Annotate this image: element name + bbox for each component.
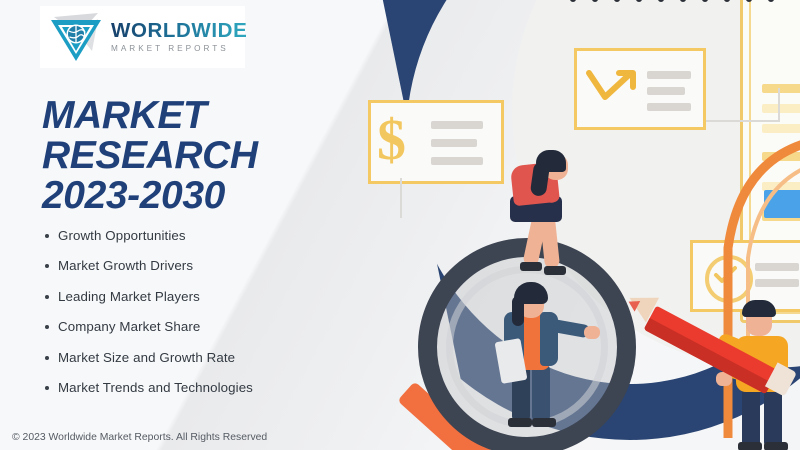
shoe xyxy=(764,442,788,450)
trend-info-card xyxy=(574,48,706,130)
copyright-notice: © 2023 Worldwide Market Reports. All Rig… xyxy=(12,432,267,443)
feature-list: Growth Opportunities Market Growth Drive… xyxy=(44,228,344,410)
card-connector xyxy=(400,178,402,218)
marketing-banner: $ xyxy=(0,0,800,450)
list-item: Company Market Share xyxy=(44,319,344,334)
headline-line-3: 2023-2030 xyxy=(42,176,342,216)
dollar-sign-icon: $ xyxy=(377,111,406,169)
spiral-binding xyxy=(566,0,800,2)
brand-tagline: MARKET REPORTS xyxy=(111,45,247,53)
logo[interactable]: WORLDWIDE MARKET REPORTS xyxy=(40,6,245,68)
list-item: Growth Opportunities xyxy=(44,228,344,243)
list-item: Market Size and Growth Rate xyxy=(44,350,344,365)
illustration: $ xyxy=(330,0,800,450)
list-item: Leading Market Players xyxy=(44,289,344,304)
doc-line xyxy=(762,84,800,93)
card-text-line xyxy=(647,87,685,95)
woman-sitting-on-magnifier xyxy=(490,152,600,288)
shoe xyxy=(532,418,556,427)
doc-line xyxy=(762,124,800,133)
card-text-line xyxy=(647,103,691,111)
headline-line-1: MARKET xyxy=(42,96,342,136)
hand xyxy=(584,326,600,339)
headline-line-2: RESEARCH xyxy=(42,136,342,176)
page-title: MARKET RESEARCH 2023-2030 xyxy=(42,96,342,216)
card-text-line xyxy=(647,71,691,79)
list-item: Market Growth Drivers xyxy=(44,258,344,273)
card-connector xyxy=(778,88,780,122)
pencil-body xyxy=(644,306,779,395)
trend-arrow-icon xyxy=(585,67,641,111)
leg xyxy=(532,364,550,422)
shoe xyxy=(738,442,762,450)
shoe xyxy=(508,418,532,427)
card-text-line xyxy=(431,121,483,129)
woman-with-clipboard xyxy=(482,278,592,434)
pencil-icon xyxy=(628,284,800,404)
pencil-shadow xyxy=(644,318,772,394)
card-text-line xyxy=(431,157,483,165)
doc-line xyxy=(762,104,800,113)
logo-wordmark: WORLDWIDE MARKET REPORTS xyxy=(111,21,247,54)
dollar-info-card: $ xyxy=(368,100,504,184)
list-item: Market Trends and Technologies xyxy=(44,380,344,395)
brand-name: WORLDWIDE xyxy=(111,21,247,42)
shoe xyxy=(520,262,542,271)
hair xyxy=(512,296,524,326)
globe-triangle-logo-icon xyxy=(48,11,104,63)
card-text-line xyxy=(431,139,477,147)
shoe xyxy=(544,266,566,275)
